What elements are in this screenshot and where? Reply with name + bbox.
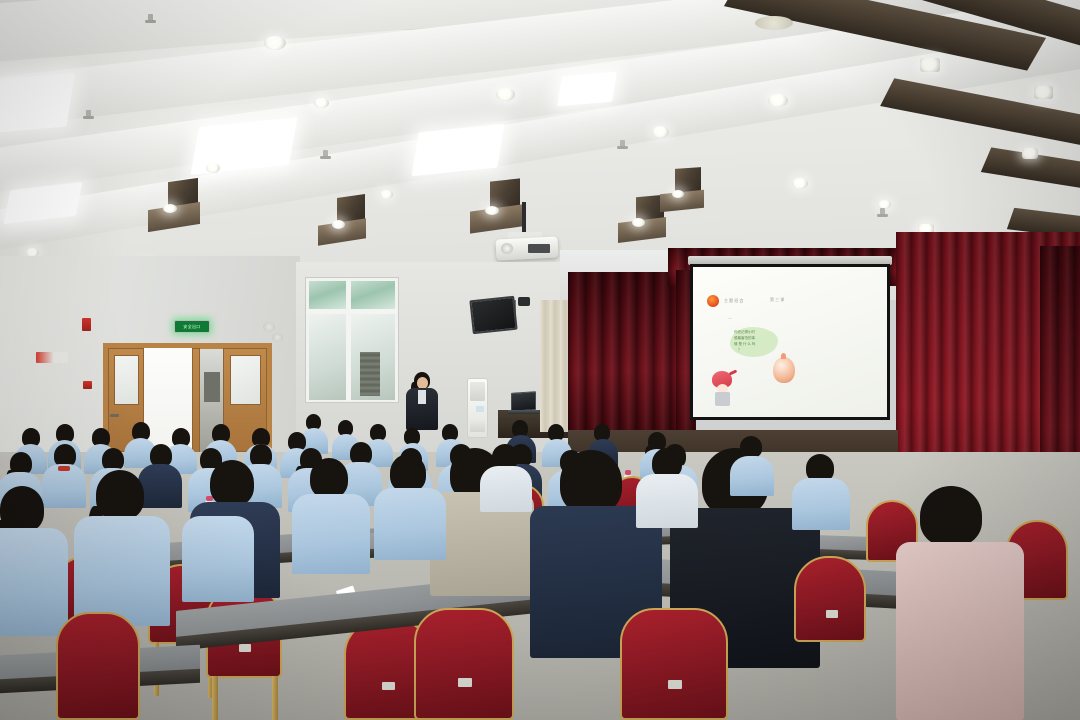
student-body bbox=[636, 474, 698, 528]
exit-sign-label: 安全出口 bbox=[183, 324, 200, 330]
recessed-downlight bbox=[314, 98, 329, 108]
student-hair bbox=[310, 458, 348, 498]
door-leaf-center[interactable] bbox=[192, 348, 200, 453]
projector-lens bbox=[501, 243, 513, 254]
student-hair bbox=[740, 436, 762, 458]
beam-spot-light bbox=[163, 204, 177, 213]
door-glass-left bbox=[114, 355, 139, 405]
student-body bbox=[792, 478, 850, 530]
water-bottle-cap bbox=[625, 470, 631, 475]
slide-bubble-line: ？ bbox=[738, 348, 742, 353]
chair-leg bbox=[272, 676, 278, 720]
recessed-downlight bbox=[264, 36, 286, 50]
chair-backrest bbox=[414, 608, 514, 720]
fire-extinguisher-marker bbox=[83, 381, 92, 389]
slide-subheader-text: 一 bbox=[728, 316, 732, 322]
student-vest bbox=[182, 516, 254, 602]
woman-body bbox=[896, 542, 1024, 720]
student-body bbox=[74, 516, 170, 626]
slide-balloon-illustration bbox=[773, 357, 795, 383]
fire-sprinkler-head bbox=[323, 150, 328, 159]
projection-screen: 主 题 班 会 第 三 课 一 你还记得小时 候最害怕的事 情 是 什 么 吗 … bbox=[693, 267, 887, 417]
adult-hair bbox=[560, 450, 622, 514]
window-mullion-vertical bbox=[346, 279, 351, 401]
door-glass-right bbox=[230, 355, 261, 405]
chair-tag bbox=[826, 610, 838, 618]
chair-tag bbox=[239, 644, 251, 652]
chair-leg bbox=[212, 676, 218, 720]
led-panel-light bbox=[0, 73, 75, 134]
projection-screen-frame: 主 题 班 会 第 三 课 一 你还记得小时 候最害怕的事 情 是 什 么 吗 … bbox=[690, 264, 890, 420]
wall-mounted-tv bbox=[469, 296, 517, 335]
fire-alarm-call-point[interactable] bbox=[82, 318, 91, 331]
recessed-downlight bbox=[206, 163, 220, 173]
led-panel-light bbox=[411, 124, 504, 177]
beam-spot-light bbox=[632, 218, 645, 227]
recessed-downlight bbox=[652, 126, 669, 138]
smoke-detector bbox=[755, 16, 793, 30]
slide-balloon-knot bbox=[781, 353, 786, 359]
ac-lower-grille bbox=[470, 420, 485, 432]
slide-character-arm bbox=[729, 369, 738, 375]
student-body bbox=[0, 528, 68, 636]
stage-curtain-left bbox=[568, 272, 690, 438]
student-body bbox=[730, 456, 774, 496]
student-body bbox=[374, 488, 446, 560]
wall-speaker bbox=[263, 322, 275, 332]
fire-sprinkler-head bbox=[148, 14, 153, 23]
beam-spot-light bbox=[485, 206, 499, 215]
presentation-laptop-base bbox=[508, 410, 539, 414]
fire-sprinkler-head bbox=[880, 208, 885, 217]
slide-bubble-line: 情 是 什 么 吗 bbox=[734, 342, 755, 347]
emergency-exit-sign: 安全出口 bbox=[174, 320, 210, 333]
student-body bbox=[138, 464, 182, 508]
chair-tag bbox=[668, 680, 682, 689]
student-hair bbox=[96, 470, 144, 520]
ac-control-panel[interactable] bbox=[476, 406, 484, 412]
student-hair bbox=[0, 486, 44, 532]
recessed-downlight bbox=[1034, 86, 1053, 99]
slide-bubble-line: 候最害怕的事 bbox=[734, 336, 755, 341]
recessed-downlight bbox=[496, 88, 515, 101]
student-hair bbox=[390, 454, 426, 492]
ac-vent-grille bbox=[470, 382, 485, 401]
beam-spot-light bbox=[332, 220, 345, 229]
window-glass-upper-left bbox=[309, 281, 347, 309]
student-hair bbox=[210, 460, 254, 506]
student-body bbox=[480, 466, 532, 512]
chair-tag bbox=[458, 678, 472, 687]
window-glass-upper-right bbox=[351, 281, 395, 309]
student-body bbox=[292, 494, 370, 574]
slide-bubble-line: 你还记得小时 bbox=[734, 330, 755, 335]
chair-backrest bbox=[620, 608, 728, 720]
chair-backrest bbox=[56, 612, 140, 720]
recessed-downlight bbox=[380, 190, 393, 199]
tv-speaker bbox=[518, 297, 530, 306]
beam-spot-light bbox=[672, 190, 684, 198]
lecture-hall-photo: 安全出口 bbox=[0, 0, 1080, 720]
fire-equipment-sign bbox=[36, 352, 68, 363]
window-interior-object bbox=[360, 352, 380, 396]
doorway-inner-shelf bbox=[204, 372, 220, 402]
slide-corner-text: 第 三 课 bbox=[770, 297, 784, 303]
slide-logo-icon bbox=[707, 295, 719, 307]
recessed-downlight bbox=[792, 178, 808, 189]
presentation-laptop-screen[interactable] bbox=[511, 391, 536, 412]
wall-speaker bbox=[272, 333, 283, 342]
fire-sprinkler-head bbox=[86, 110, 91, 119]
chair-backrest bbox=[794, 556, 866, 642]
recessed-downlight bbox=[920, 58, 940, 72]
presenter-shirt bbox=[418, 390, 426, 404]
recessed-downlight bbox=[1022, 148, 1038, 159]
led-panel-light bbox=[557, 72, 617, 107]
window-glass-lower-left bbox=[309, 314, 347, 400]
slide-character-body bbox=[715, 392, 730, 406]
slide-header-text: 主 题 班 会 bbox=[724, 298, 743, 304]
door-handle-left[interactable] bbox=[110, 414, 119, 417]
chair-tag bbox=[382, 682, 395, 690]
projector-mount-pole bbox=[522, 202, 526, 234]
recessed-downlight bbox=[768, 94, 788, 107]
fire-sprinkler-head bbox=[620, 140, 625, 149]
projector-vent bbox=[528, 244, 550, 253]
red-scarf bbox=[58, 466, 70, 471]
